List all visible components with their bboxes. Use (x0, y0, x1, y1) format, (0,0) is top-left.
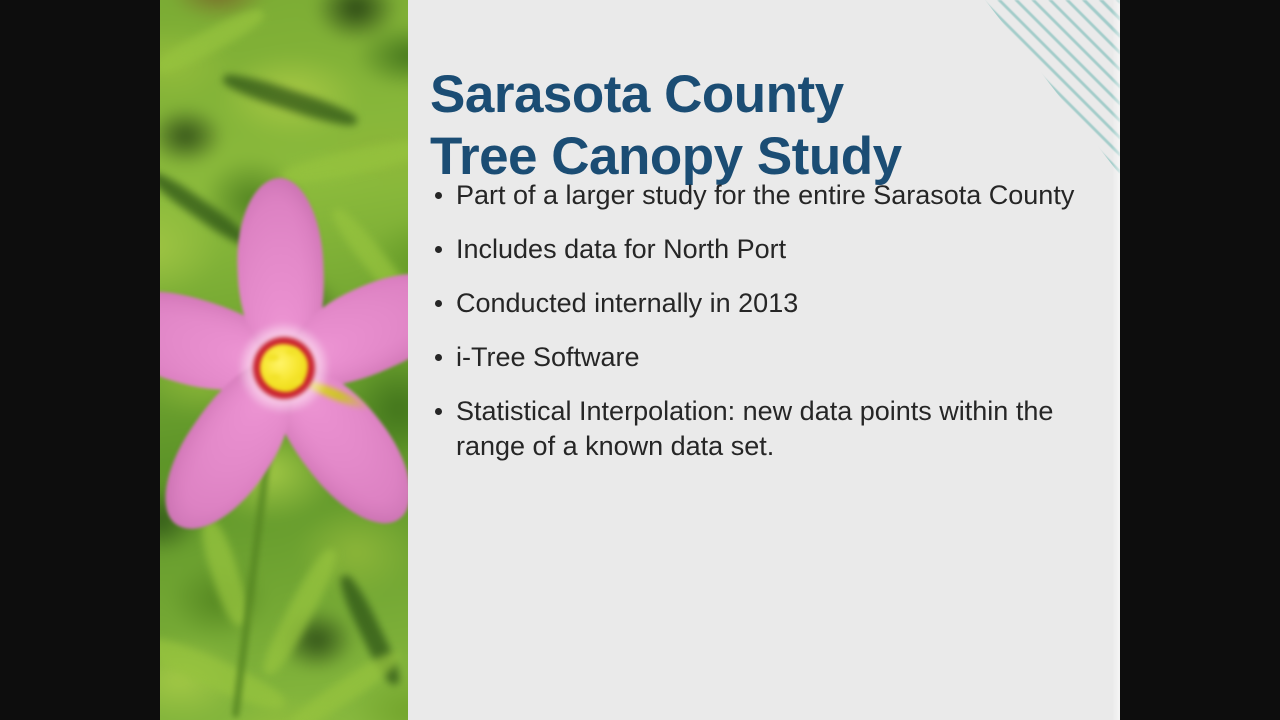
bullet-item: i-Tree Software (428, 340, 1078, 375)
bullet-text: Statistical Interpolation: new data poin… (456, 396, 1053, 461)
flower-anther (268, 374, 281, 381)
bullet-dot-icon (435, 354, 442, 361)
bullet-item: Conducted internally in 2013 (428, 286, 1078, 321)
flower-center (260, 344, 308, 392)
slide-content-panel: Sarasota County Tree Canopy Study Part o… (408, 0, 1120, 720)
flower-anther (290, 378, 303, 385)
slide: Sarasota County Tree Canopy Study Part o… (160, 0, 1120, 720)
bullet-item: Statistical Interpolation: new data poin… (428, 394, 1078, 464)
bullet-text: i-Tree Software (456, 342, 640, 372)
bullet-dot-icon (435, 300, 442, 307)
letterbox-left (0, 0, 160, 720)
bullet-text: Part of a larger study for the entire Sa… (456, 180, 1074, 210)
presentation-viewport: Sarasota County Tree Canopy Study Part o… (0, 0, 1280, 720)
slide-bullet-list: Part of a larger study for the entire Sa… (428, 178, 1078, 483)
bullet-text: Conducted internally in 2013 (456, 288, 798, 318)
bullet-dot-icon (435, 192, 442, 199)
slide-photo (160, 0, 408, 720)
letterbox-right (1120, 0, 1280, 720)
bullet-dot-icon (435, 408, 442, 415)
slide-title-line-1: Sarasota County (430, 64, 1050, 126)
bullet-item: Includes data for North Port (428, 232, 1078, 267)
slide-title: Sarasota County Tree Canopy Study (430, 64, 1050, 188)
bullet-item: Part of a larger study for the entire Sa… (428, 178, 1078, 213)
flower-anther (266, 354, 279, 361)
bullet-text: Includes data for North Port (456, 234, 786, 264)
bullet-dot-icon (435, 246, 442, 253)
flower-anther (286, 348, 299, 355)
